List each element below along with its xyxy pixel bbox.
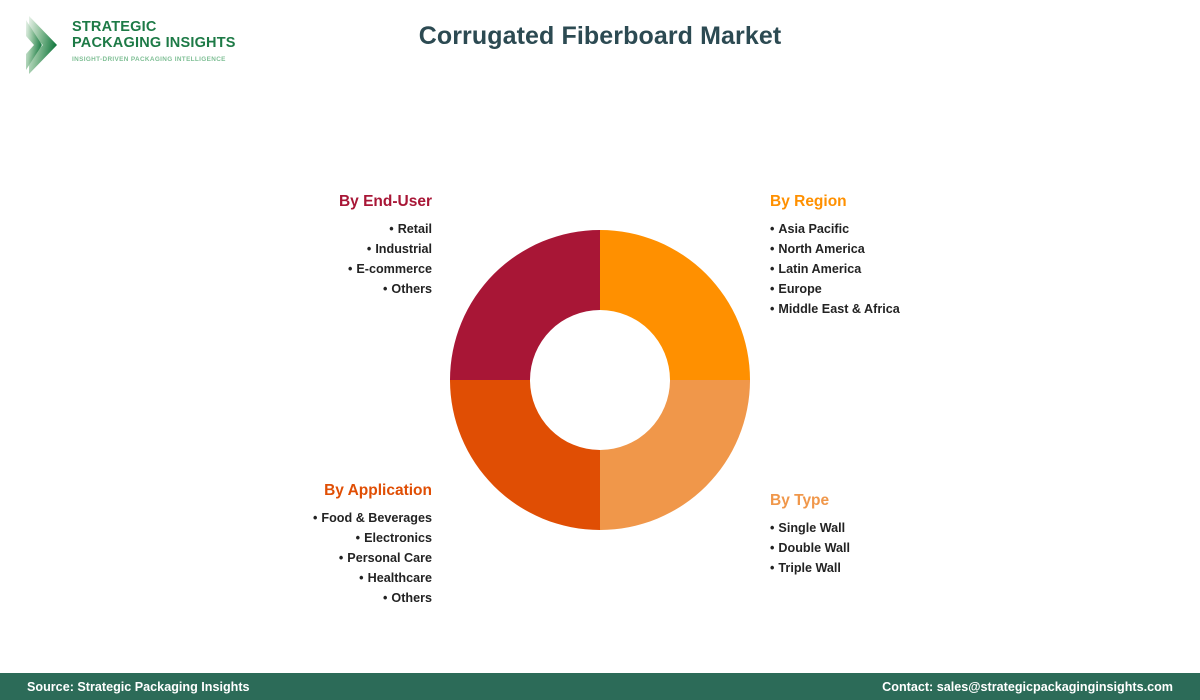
segment-heading-region: By Region: [770, 193, 1070, 210]
list-item-label: Industrial: [375, 242, 432, 256]
bullet-icon: •: [359, 571, 363, 585]
segment-list-type: •Single Wall •Double Wall •Triple Wall: [770, 518, 1070, 578]
footer-contact[interactable]: Contact: sales@strategicpackaginginsight…: [882, 680, 1173, 694]
segment-block-end-user: By End-User •Retail •Industrial •E-comme…: [220, 193, 432, 299]
segment-list-application: •Food & Beverages •Electronics •Personal…: [190, 508, 432, 608]
bullet-icon: •: [770, 262, 774, 276]
list-item: •Triple Wall: [770, 558, 1070, 578]
donut-slice-end-user: [450, 230, 600, 380]
bullet-icon: •: [770, 242, 774, 256]
brand-tagline: INSIGHT-DRIVEN PACKAGING INTELLIGENCE: [72, 56, 236, 63]
bullet-icon: •: [389, 222, 393, 236]
bullet-icon: •: [383, 591, 387, 605]
bullet-icon: •: [770, 302, 774, 316]
segment-heading-type: By Type: [770, 492, 1070, 509]
segment-block-region: By Region •Asia Pacific •North America •…: [770, 193, 1070, 319]
bullet-icon: •: [383, 282, 387, 296]
segment-heading-end-user: By End-User: [220, 193, 432, 210]
segment-list-end-user: •Retail •Industrial •E-commerce •Others: [220, 219, 432, 299]
list-item-label: E-commerce: [356, 262, 432, 276]
infographic-page: STRATEGIC PACKAGING INSIGHTS INSIGHT-DRI…: [0, 0, 1200, 700]
segment-list-region: •Asia Pacific •North America •Latin Amer…: [770, 219, 1070, 319]
donut-slice-application: [450, 380, 600, 530]
donut-slice-region: [600, 230, 750, 380]
bullet-icon: •: [770, 521, 774, 535]
list-item-label: Asia Pacific: [778, 222, 849, 236]
donut-slice-type: [600, 380, 750, 530]
donut-chart: [450, 230, 750, 530]
list-item: •Middle East & Africa: [770, 299, 1070, 319]
list-item-label: Others: [391, 591, 432, 605]
list-item-label: Food & Beverages: [321, 511, 432, 525]
list-item: •Electronics: [190, 528, 432, 548]
list-item: •Healthcare: [190, 568, 432, 588]
bullet-icon: •: [339, 551, 343, 565]
list-item: •Industrial: [220, 239, 432, 259]
list-item: •Personal Care: [190, 548, 432, 568]
footer-source: Source: Strategic Packaging Insights: [27, 680, 250, 694]
list-item-label: Triple Wall: [778, 561, 841, 575]
donut-chart-svg: [450, 230, 750, 530]
bullet-icon: •: [770, 561, 774, 575]
bullet-icon: •: [348, 262, 352, 276]
list-item: •Asia Pacific: [770, 219, 1070, 239]
list-item: •Retail: [220, 219, 432, 239]
bullet-icon: •: [367, 242, 371, 256]
list-item: •North America: [770, 239, 1070, 259]
list-item-label: Personal Care: [347, 551, 432, 565]
list-item-label: Others: [391, 282, 432, 296]
list-item-label: Single Wall: [778, 521, 845, 535]
footer-bar: Source: Strategic Packaging Insights Con…: [0, 673, 1200, 700]
bullet-icon: •: [770, 282, 774, 296]
bullet-icon: •: [770, 222, 774, 236]
list-item: •E-commerce: [220, 259, 432, 279]
list-item-label: Double Wall: [778, 541, 850, 555]
segment-heading-application: By Application: [190, 482, 432, 499]
bullet-icon: •: [313, 511, 317, 525]
list-item: •Double Wall: [770, 538, 1070, 558]
list-item-label: Healthcare: [368, 571, 432, 585]
list-item-label: Europe: [778, 282, 821, 296]
list-item-label: Latin America: [778, 262, 861, 276]
list-item-label: Retail: [398, 222, 432, 236]
list-item: •Latin America: [770, 259, 1070, 279]
segment-block-application: By Application •Food & Beverages •Electr…: [190, 482, 432, 608]
segment-block-type: By Type •Single Wall •Double Wall •Tripl…: [770, 492, 1070, 578]
list-item: •Food & Beverages: [190, 508, 432, 528]
list-item: •Others: [190, 588, 432, 608]
list-item: •Single Wall: [770, 518, 1070, 538]
list-item: •Europe: [770, 279, 1070, 299]
bullet-icon: •: [356, 531, 360, 545]
bullet-icon: •: [770, 541, 774, 555]
page-title: Corrugated Fiberboard Market: [0, 22, 1200, 51]
list-item-label: Electronics: [364, 531, 432, 545]
list-item-label: Middle East & Africa: [778, 302, 899, 316]
list-item-label: North America: [778, 242, 864, 256]
list-item: •Others: [220, 279, 432, 299]
